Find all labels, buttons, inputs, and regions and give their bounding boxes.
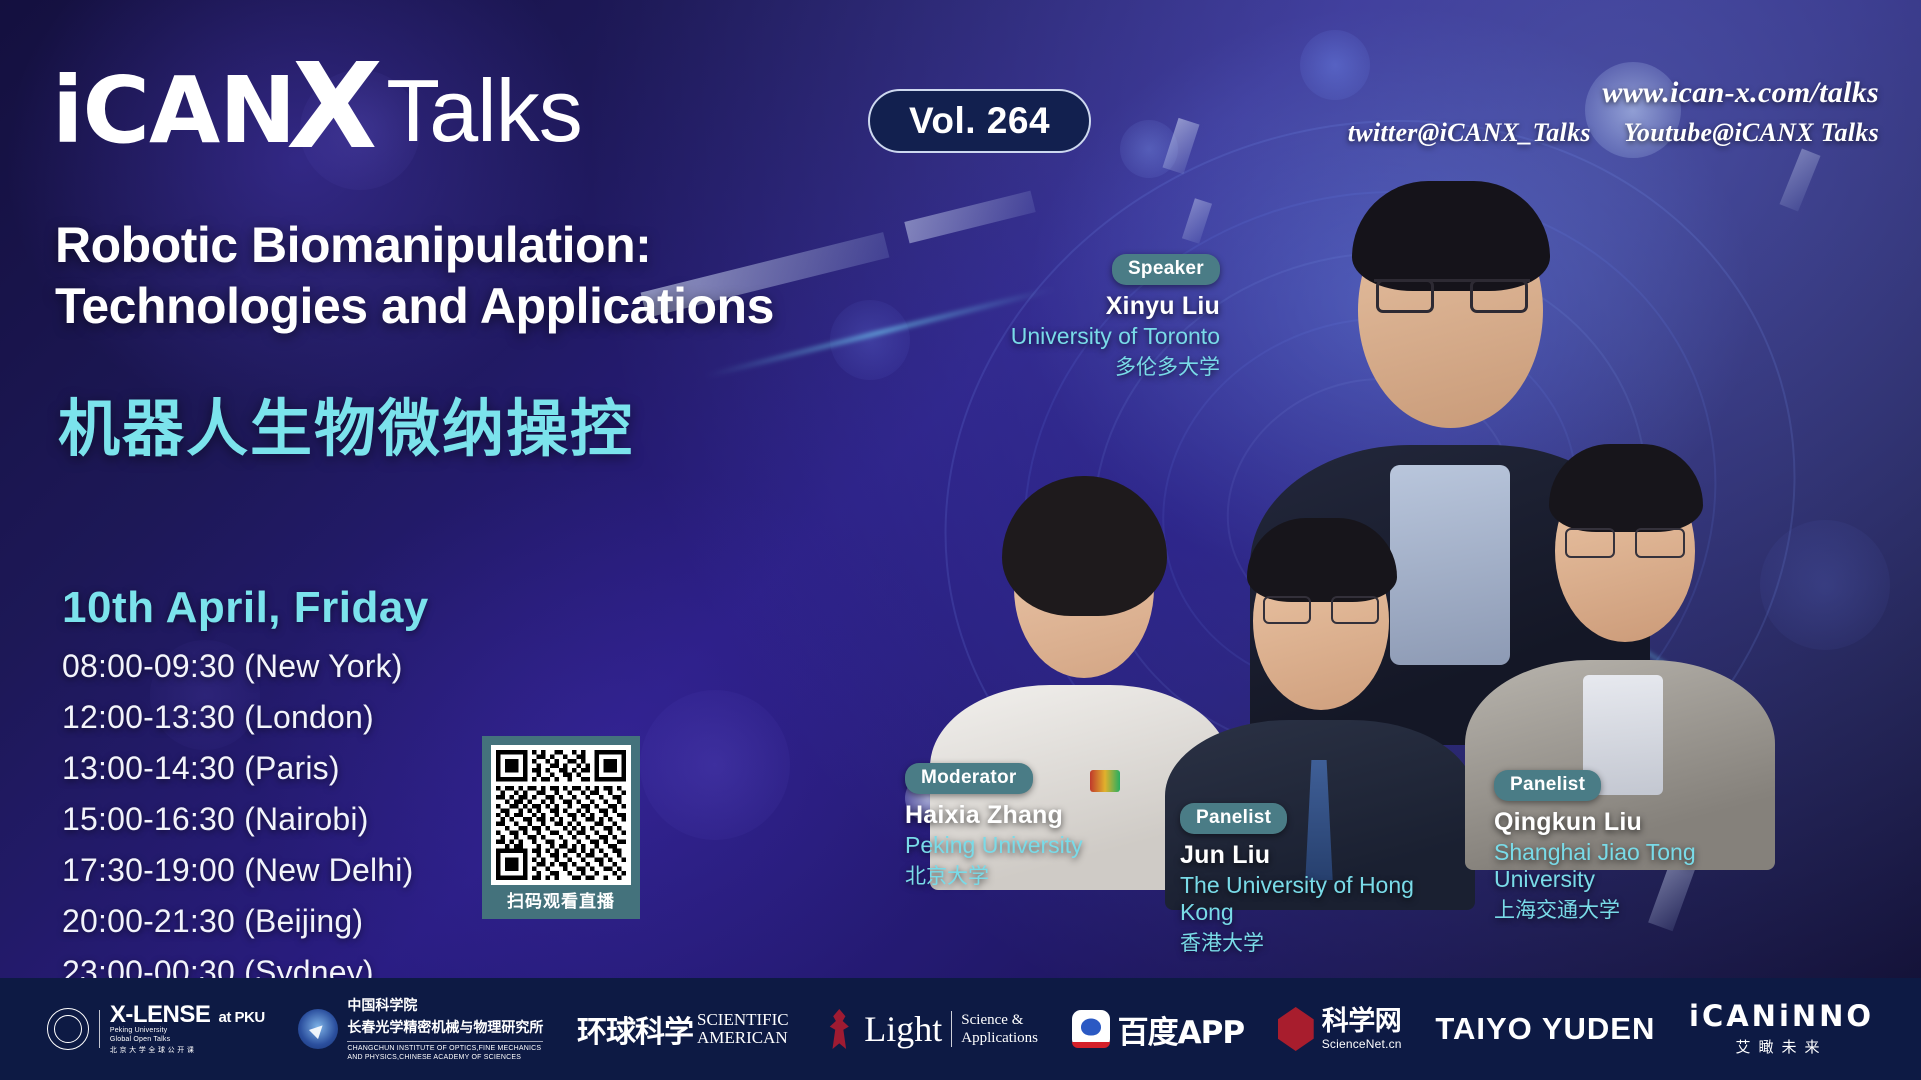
- timezone-item: 12:00-13:30 (London): [62, 701, 413, 733]
- person-info-panelist-jun: Panelist Jun Liu The University of Hong …: [1180, 803, 1440, 957]
- icanx-talks-logo: iCAN X Talks: [52, 58, 582, 155]
- bokeh-dot: [1760, 520, 1890, 650]
- talk-title-cn: 机器人生物微纳操控: [58, 378, 634, 468]
- baidu-wordmark: 百度APP: [1118, 1007, 1244, 1052]
- poster-canvas: iCAN X Talks Vol. 264 www.ican-x.com/tal…: [0, 0, 1921, 1080]
- speaker-glasses-lens: [1470, 279, 1528, 313]
- sponsor-xlense-pku: X-LENSE at PKU Peking University Global …: [47, 1003, 265, 1055]
- role-badge-panelist-qingkun: Panelist: [1494, 770, 1601, 801]
- sa-en-line1: SCIENTIFIC: [697, 1011, 789, 1029]
- bokeh-dot: [1120, 120, 1178, 178]
- pku-seal-icon: [47, 1008, 89, 1050]
- timezone-item: 20:00-21:30 (Beijing): [62, 905, 413, 937]
- timezone-item: 17:30-19:00 (New Delhi): [62, 854, 413, 886]
- light-sub-line2: Applications: [961, 1029, 1038, 1047]
- website-url[interactable]: www.ican-x.com/talks: [1348, 76, 1879, 110]
- social-handles: twitter@iCANX_Talks Youtube@iCANX Talks: [1348, 118, 1879, 148]
- cas-sub1: CHANGCHUN INSTITUTE OF OPTICS,FINE MECHA…: [347, 1045, 543, 1054]
- icaninno-chinese-name: 艾瞰未来: [1689, 1036, 1874, 1057]
- person-info-moderator: Moderator Haixia Zhang Peking University…: [905, 763, 1155, 890]
- logo-ican-text: iCAN: [52, 67, 295, 154]
- cas-line2: 长春光学精密机械与物理研究所: [347, 1017, 543, 1037]
- sponsor-taiyo-yuden: TAIYO YUDEN: [1435, 1011, 1655, 1047]
- sponsor-light-science-applications: Light Science & Applications: [822, 1009, 1038, 1049]
- sa-chinese-name: 环球科学: [577, 1007, 693, 1051]
- person-info-speaker: Speaker Xinyu Liu University of Toronto …: [1005, 254, 1220, 381]
- light-wordmark: Light: [864, 1011, 942, 1047]
- panelist-qingkun-hair: [1549, 444, 1703, 532]
- event-date: 10th April, Friday: [62, 583, 429, 633]
- sponsor-changchun-cas: 中国科学院 长春光学精密机械与物理研究所 CHANGCHUN INSTITUTE…: [298, 995, 543, 1063]
- contact-links: www.ican-x.com/talks twitter@iCANX_Talks…: [1348, 76, 1879, 148]
- timezone-item: 13:00-14:30 (Paris): [62, 752, 413, 784]
- light-subtitle: Science & Applications: [951, 1011, 1038, 1047]
- youtube-handle[interactable]: Youtube@iCANX Talks: [1624, 118, 1879, 147]
- panelist-jun-university-cn: 香港大学: [1180, 927, 1440, 957]
- cas-line1: 中国科学院: [347, 995, 543, 1015]
- qr-code-image: [491, 745, 631, 885]
- baidu-paw-icon: [1072, 1010, 1110, 1048]
- speaker-hair: [1352, 181, 1550, 291]
- panelist-jun-glasses-lens: [1331, 596, 1379, 624]
- cas-sub2: AND PHYSICS,CHINESE ACADEMY OF SCIENCES: [347, 1054, 543, 1063]
- sponsor-baidu-app: 百度APP: [1072, 1007, 1244, 1052]
- speaker-glasses-lens: [1376, 279, 1434, 313]
- speaker-university-cn: 多伦多大学: [1005, 351, 1220, 381]
- xlense-sub1: Peking University: [110, 1027, 265, 1036]
- moderator-university: Peking University: [905, 832, 1155, 859]
- light-shard: [1182, 198, 1212, 244]
- sa-en-line2: AMERICAN: [697, 1029, 789, 1047]
- light-shard: [904, 191, 1035, 244]
- panelist-jun-name: Jun Liu: [1180, 841, 1440, 870]
- timezone-list: 08:00-09:30 (New York) 12:00-13:30 (Lond…: [62, 650, 413, 1007]
- panelist-qingkun-glasses-lens: [1565, 528, 1615, 558]
- sponsor-icaninno: iCANiNNO 艾瞰未来: [1689, 1002, 1874, 1057]
- light-torch-icon: [822, 1009, 856, 1049]
- twitter-handle[interactable]: twitter@iCANX_Talks: [1348, 118, 1591, 147]
- moderator-hair: [1002, 476, 1167, 616]
- sciencenet-chinese-name: 科学网: [1322, 1008, 1402, 1035]
- sponsor-scientific-american: 环球科学 SCIENTIFIC AMERICAN: [577, 1007, 789, 1051]
- timezone-item: 08:00-09:30 (New York): [62, 650, 413, 682]
- xlense-wordmark: X-LENSE at PKU: [110, 1003, 265, 1027]
- qr-caption: 扫码观看直播: [491, 885, 631, 919]
- role-badge-speaker: Speaker: [1112, 254, 1220, 285]
- panelist-jun-hair: [1247, 518, 1397, 602]
- sponsor-sciencenet: 科学网 ScienceNet.cn: [1278, 1007, 1402, 1051]
- divider: [99, 1010, 100, 1048]
- taiyo-yuden-wordmark: TAIYO YUDEN: [1435, 1011, 1655, 1047]
- moderator-university-cn: 北京大学: [905, 860, 1155, 890]
- panelist-qingkun-glasses-lens: [1635, 528, 1685, 558]
- sponsor-footer: X-LENSE at PKU Peking University Global …: [0, 978, 1921, 1080]
- panelist-qingkun-university-cn: 上海交通大学: [1494, 894, 1774, 924]
- sciencenet-emblem-icon: [1278, 1007, 1314, 1051]
- light-shard: [1779, 148, 1820, 211]
- light-shard: [1163, 118, 1200, 174]
- xlense-sub-cn: 北 京 大 学 全 球 公 开 课: [110, 1046, 265, 1055]
- logo-x-mark: X: [286, 58, 384, 155]
- sa-english-name: SCIENTIFIC AMERICAN: [697, 1011, 789, 1047]
- qr-code-svg: [496, 750, 626, 880]
- icaninno-wordmark: iCANiNNO: [1689, 1002, 1874, 1031]
- speaker-name: Xinyu Liu: [1005, 292, 1220, 321]
- person-info-panelist-qingkun: Panelist Qingkun Liu Shanghai Jiao Tong …: [1494, 770, 1774, 924]
- panelist-jun-glasses-lens: [1263, 596, 1311, 624]
- volume-badge: Vol. 264: [868, 89, 1091, 153]
- moderator-name: Haixia Zhang: [905, 801, 1155, 830]
- logo-talks-text: Talks: [386, 67, 582, 155]
- bokeh-dot: [640, 690, 790, 840]
- panelist-jun-university: The University of Hong Kong: [1180, 872, 1440, 926]
- timezone-item: 15:00-16:30 (Nairobi): [62, 803, 413, 835]
- xlense-main-text: X-LENSE: [110, 1001, 211, 1028]
- sciencenet-domain: ScienceNet.cn: [1322, 1037, 1402, 1051]
- xlense-at-text: at PKU: [219, 1009, 265, 1026]
- role-badge-moderator: Moderator: [905, 763, 1033, 794]
- role-badge-panelist-jun: Panelist: [1180, 803, 1287, 834]
- speaker-university: University of Toronto: [1005, 323, 1220, 350]
- talk-title-en: Robotic Biomanipulation: Technologies an…: [55, 215, 885, 337]
- cas-emblem-icon: [298, 1009, 338, 1049]
- panelist-qingkun-university: Shanghai Jiao Tong University: [1494, 839, 1774, 893]
- light-sub-line1: Science &: [961, 1011, 1038, 1029]
- panelist-qingkun-name: Qingkun Liu: [1494, 808, 1774, 837]
- xlense-sub2: Global Open Talks: [110, 1036, 265, 1045]
- qr-code-card[interactable]: 扫码观看直播: [482, 736, 640, 919]
